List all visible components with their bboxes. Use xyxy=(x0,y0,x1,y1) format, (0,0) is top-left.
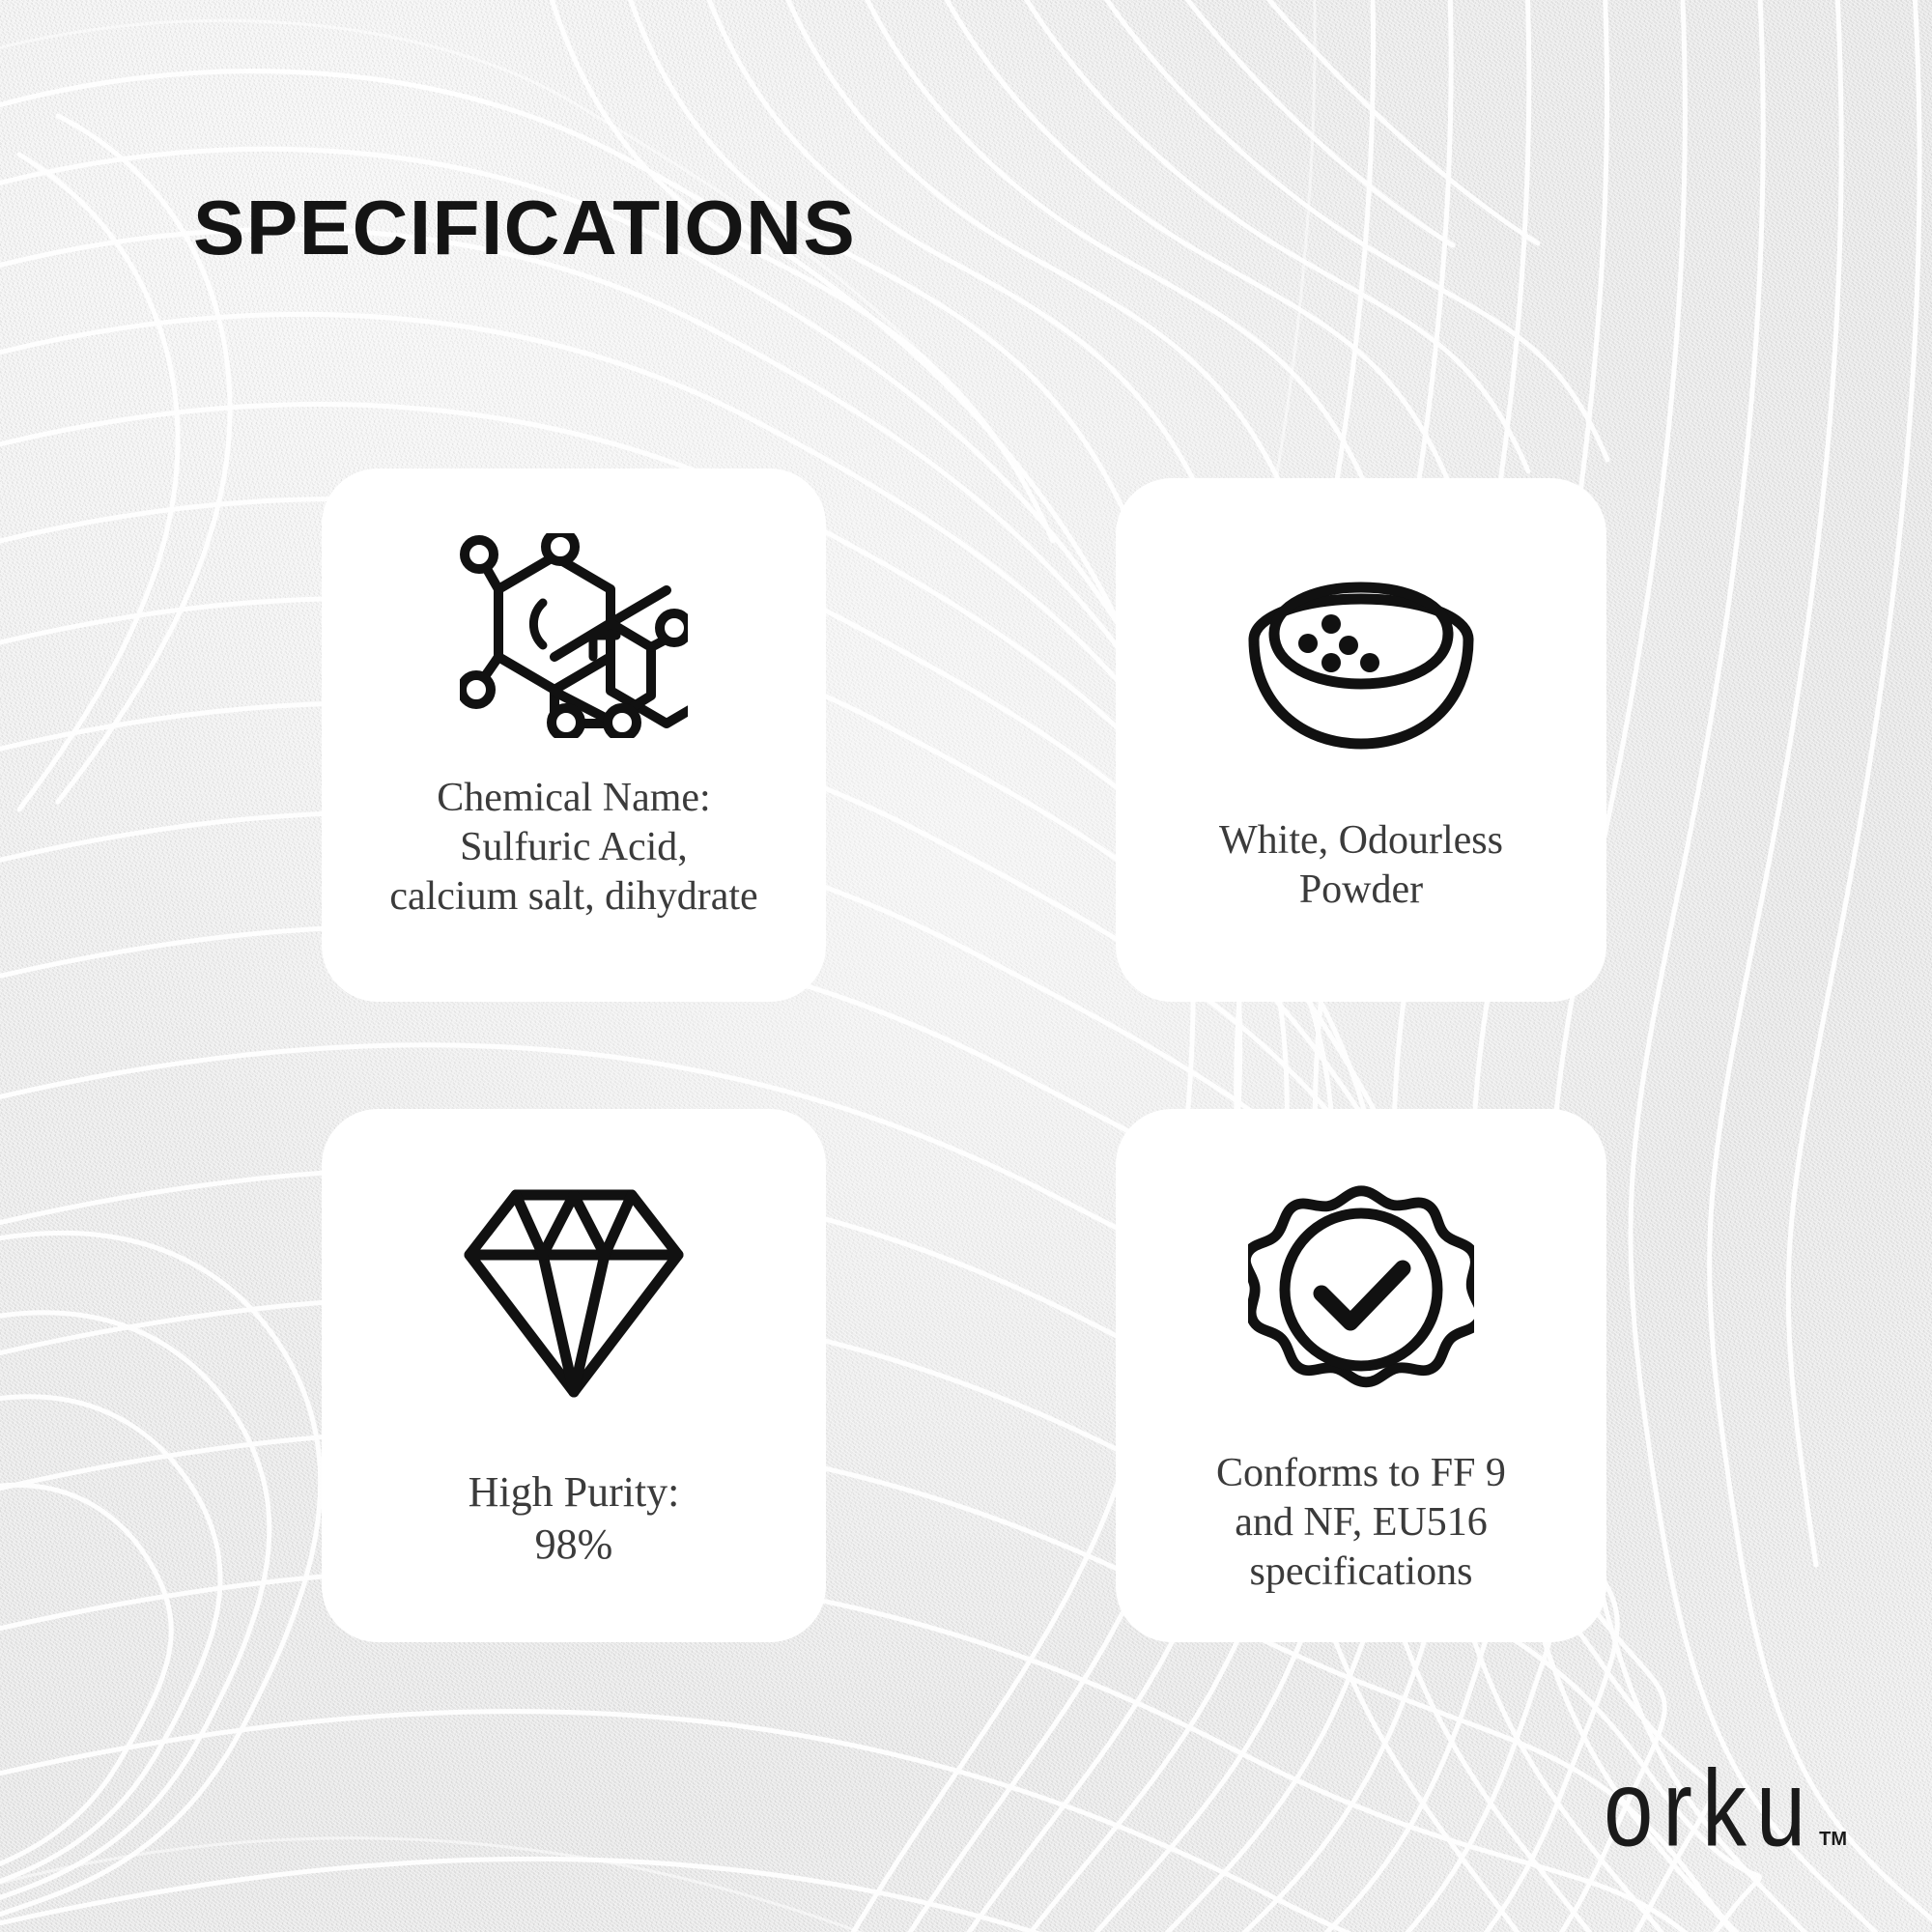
molecule-icon xyxy=(460,534,688,737)
brand-logo-wordmark: orku xyxy=(1604,1761,1815,1859)
spec-caption-appearance: White, Odourless Powder xyxy=(1207,816,1515,915)
trademark-symbol: TM xyxy=(1819,1829,1847,1851)
specification-cards-grid: Chemical Name: Sulfuric Acid, calcium sa… xyxy=(0,0,1932,1932)
spec-card-appearance[interactable]: White, Odourless Powder xyxy=(1116,478,1606,1002)
spec-caption-chemical-name: Chemical Name: Sulfuric Acid, calcium sa… xyxy=(378,774,769,923)
spec-card-chemical-name[interactable]: Chemical Name: Sulfuric Acid, calcium sa… xyxy=(322,469,826,1002)
spec-caption-compliance: Conforms to FF 9 and NF, EU516 specifica… xyxy=(1205,1449,1518,1598)
brand-logo: orku TM xyxy=(1604,1778,1847,1859)
powder-bowl-icon xyxy=(1242,563,1480,756)
spec-card-compliance[interactable]: Conforms to FF 9 and NF, EU516 specifica… xyxy=(1116,1109,1606,1642)
spec-caption-purity: High Purity: 98% xyxy=(457,1466,692,1570)
spec-card-purity[interactable]: High Purity: 98% xyxy=(322,1109,826,1642)
specifications-poster: SPECIFICATIONS xyxy=(0,0,1932,1932)
diamond-icon xyxy=(460,1169,688,1410)
certified-badge-icon xyxy=(1248,1169,1474,1410)
